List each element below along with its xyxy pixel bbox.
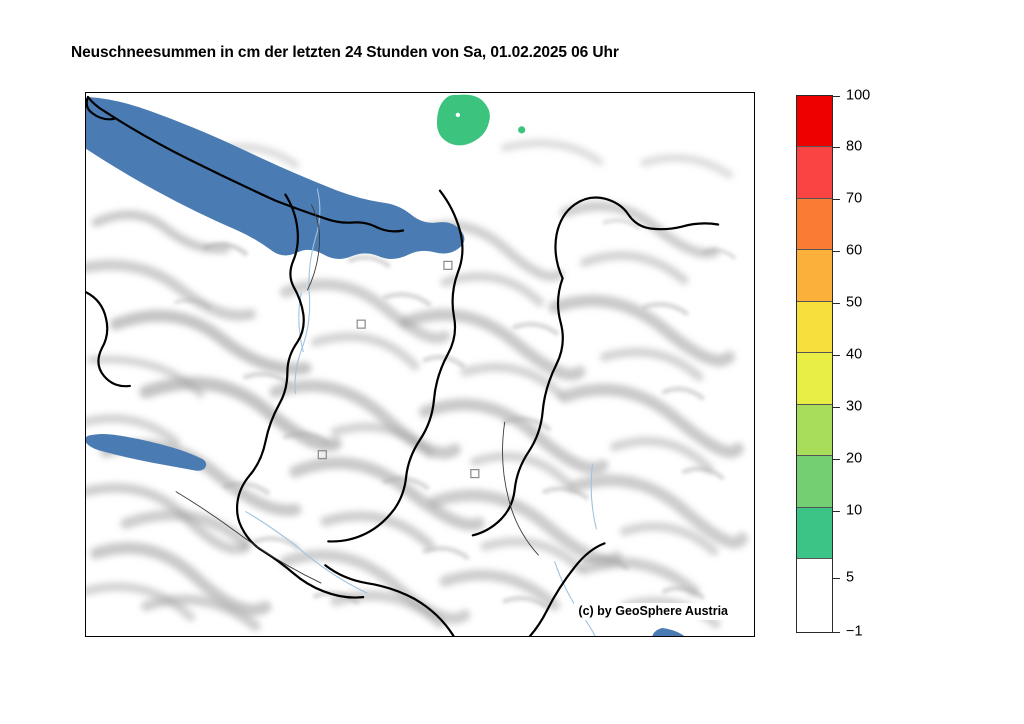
colorbar-tick-label-20: 20 <box>846 452 862 467</box>
colorbar[interactable]: 100 80 70 60 50 40 30 20 10 5 −1 <box>796 95 833 633</box>
colorbar-band-30-40 <box>797 352 832 403</box>
colorbar-tick-mark-100 <box>833 96 840 97</box>
colorbar-tick-label-80: 80 <box>846 140 862 155</box>
colorbar-tick-label-30: 30 <box>846 400 862 415</box>
colorbar-tick-mark-10 <box>833 511 840 512</box>
colorbar-tick-mark-60 <box>833 251 840 252</box>
colorbar-tick-mark-30 <box>833 407 840 408</box>
map-panel[interactable]: (c) by GeoSphere Austria <box>85 92 755 637</box>
colorbar-tick-label-100: 100 <box>846 89 870 104</box>
map-canvas[interactable] <box>86 93 754 636</box>
colorbar-tick-mark-40 <box>833 355 840 356</box>
colorbar-tick-mark-80 <box>833 147 840 148</box>
colorbar-band-50-60 <box>797 249 832 300</box>
colorbar-tick-label-5: 5 <box>846 571 854 586</box>
colorbar-band-10-20 <box>797 455 832 506</box>
page-title: Neuschneesummen in cm der letzten 24 Stu… <box>71 44 619 62</box>
snow-patch-hole <box>456 113 460 117</box>
colorbar-tick-label-40: 40 <box>846 348 862 363</box>
colorbar-band-40-50 <box>797 301 832 352</box>
snow-patch-dot <box>518 126 525 133</box>
colorbar-tick-label-70: 70 <box>846 192 862 207</box>
colorbar-band-minus1-5 <box>797 558 832 632</box>
colorbar-tick-label-50: 50 <box>846 296 862 311</box>
map-attribution-watermark: (c) by GeoSphere Austria <box>574 603 732 620</box>
colorbar-band-5-10 <box>797 507 832 558</box>
colorbar-band-20-30 <box>797 404 832 455</box>
colorbar-tick-mark-70 <box>833 199 840 200</box>
colorbar-band-70-80 <box>797 146 832 197</box>
colorbar-bands <box>796 95 833 633</box>
colorbar-band-80-100 <box>797 96 832 146</box>
colorbar-tick-mark-minus1 <box>833 632 840 633</box>
colorbar-tick-label-minus1: −1 <box>846 625 863 640</box>
colorbar-ticks: 100 80 70 60 50 40 30 20 10 5 −1 <box>833 95 893 633</box>
colorbar-tick-label-10: 10 <box>846 504 862 519</box>
colorbar-band-60-70 <box>797 198 832 249</box>
colorbar-tick-mark-50 <box>833 303 840 304</box>
colorbar-tick-mark-5 <box>833 578 840 579</box>
colorbar-tick-label-60: 60 <box>846 244 862 259</box>
colorbar-tick-mark-20 <box>833 459 840 460</box>
